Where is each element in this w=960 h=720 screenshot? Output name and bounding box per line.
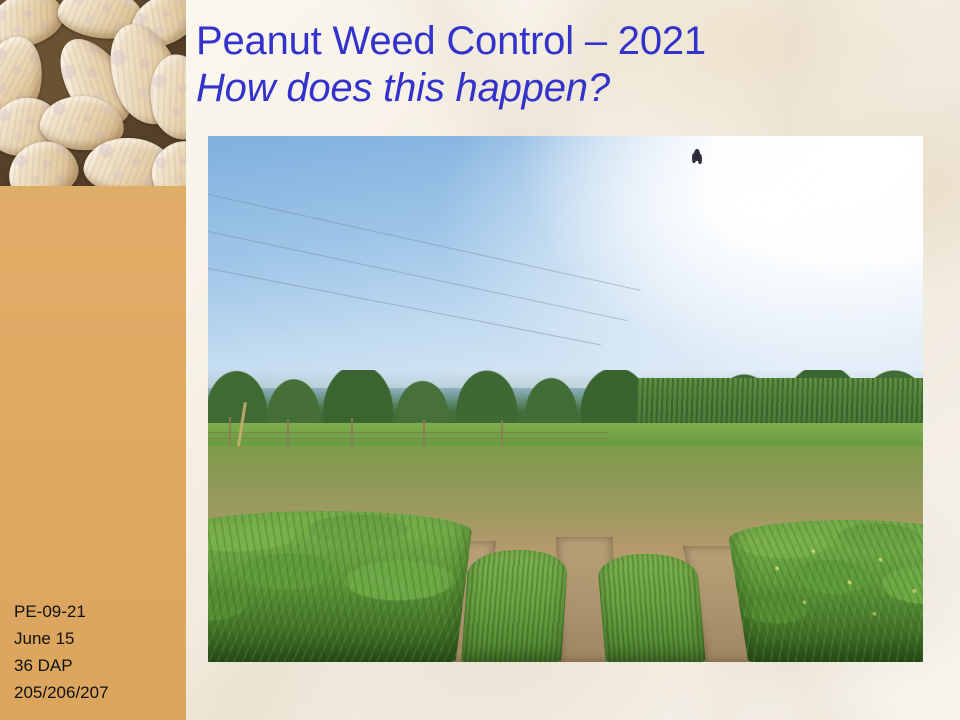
photo-fence-wire [208,432,608,433]
slide-title-block: Peanut Weed Control – 2021 How does this… [196,18,936,112]
photo-weedy-plot-left [208,511,475,662]
slide-caption: PE-09-21 June 15 36 DAP 205/206/207 [14,598,184,706]
caption-line-dap: 36 DAP [14,652,184,679]
photo-corn-field [637,378,923,428]
left-sidebar: PE-09-21 June 15 36 DAP 205/206/207 [0,0,186,720]
page-subtitle: How does this happen? [196,65,936,112]
peanut-field-plot-photo [208,136,923,662]
photo-sky [208,136,923,388]
page-title: Peanut Weed Control – 2021 [196,18,936,65]
photo-clean-peanut-row [597,554,707,662]
caption-line-date: June 15 [14,625,184,652]
slide-canvas: PE-09-21 June 15 36 DAP 205/206/207 Pean… [0,0,960,720]
photo-clean-peanut-row [461,550,569,662]
photo-field [208,446,923,662]
photo-bird [694,149,700,161]
caption-line-trial-id: PE-09-21 [14,598,184,625]
photo-weedy-plot-right [726,520,923,662]
photo-weed-blossoms [726,520,923,662]
peanut-shells-photo [0,0,186,186]
photo-fence-wire [208,438,608,439]
caption-line-plot-nums: 205/206/207 [14,679,184,706]
